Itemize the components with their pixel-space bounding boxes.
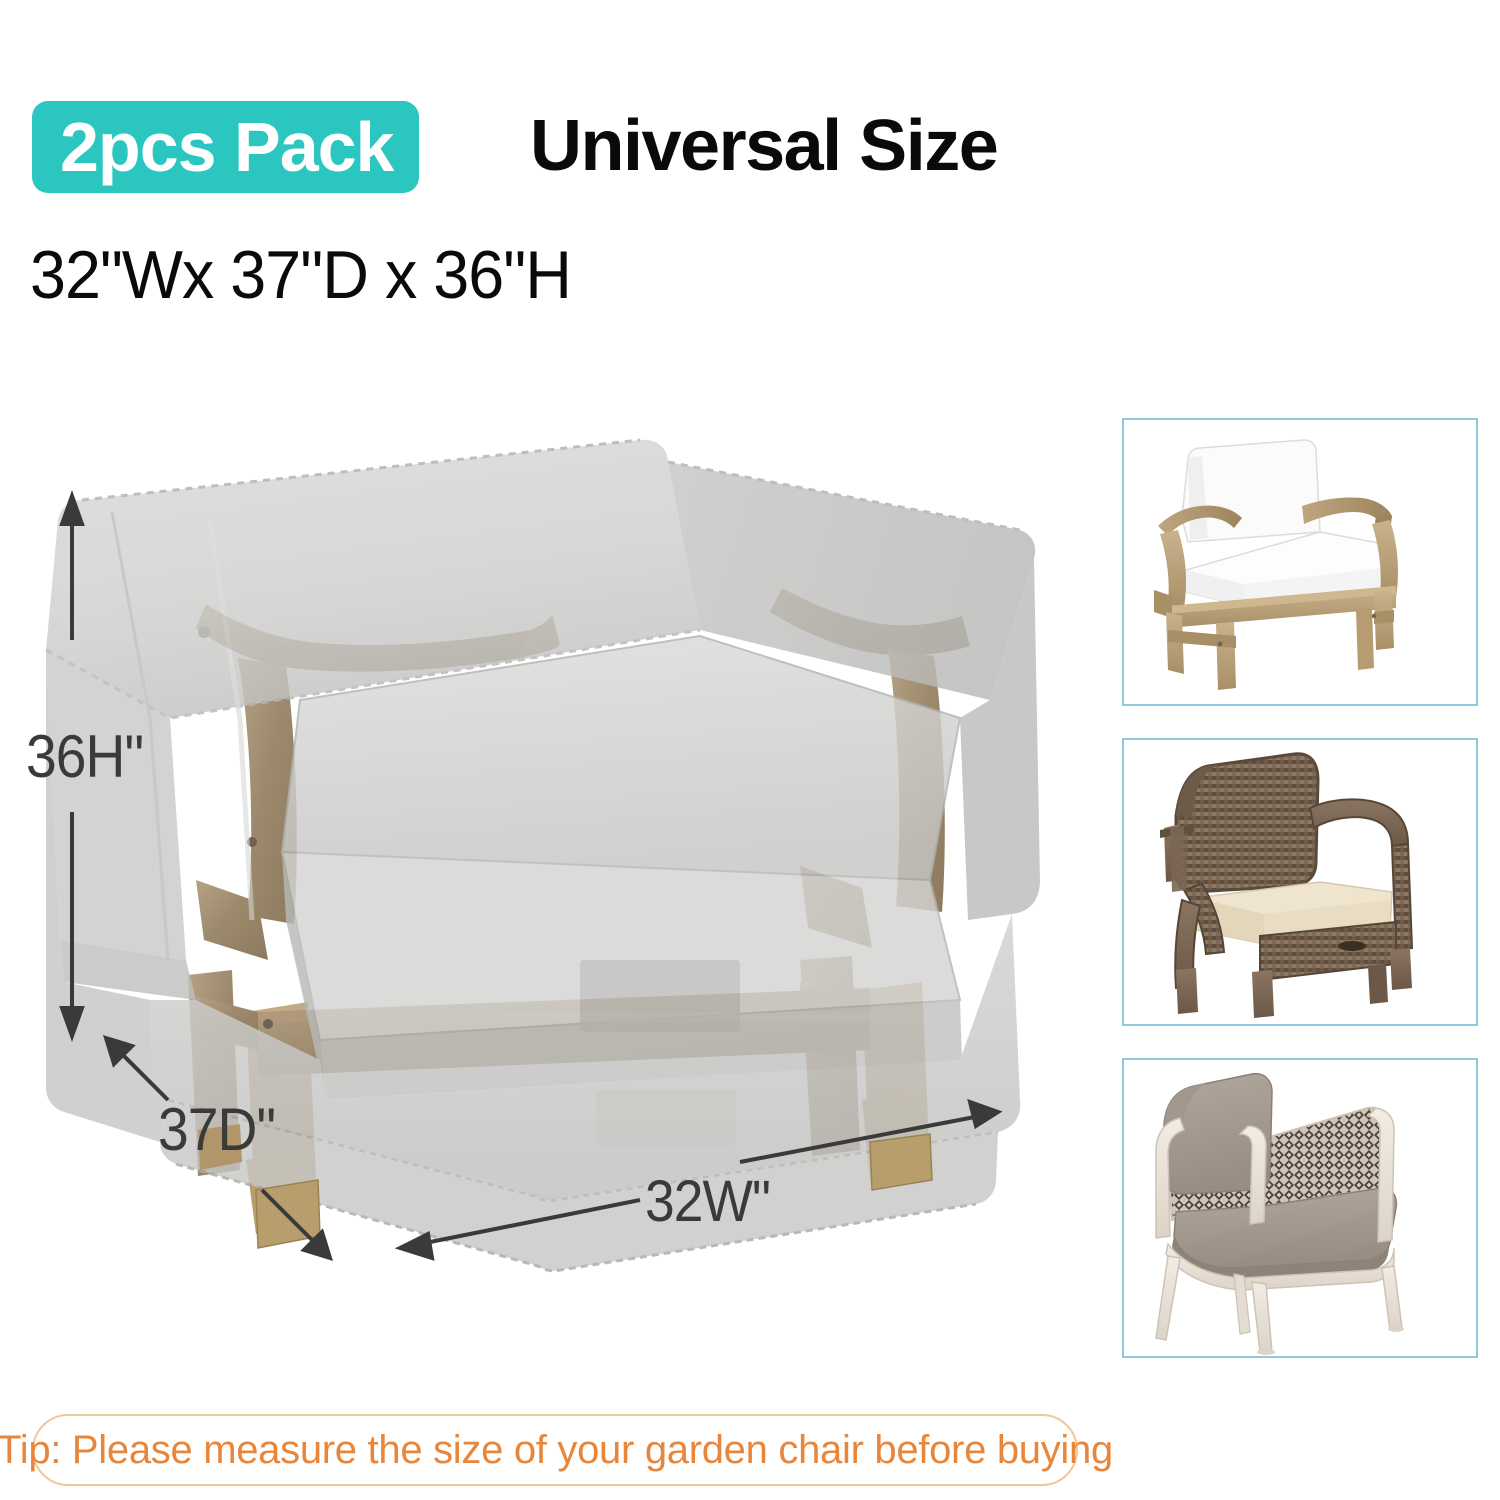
compatible-chair-thumbnail-1[interactable]: [1122, 418, 1478, 706]
tip-text: Tip: Please measure the size of your gar…: [0, 1428, 1113, 1473]
compatible-chair-thumbnail-3[interactable]: [1122, 1058, 1478, 1358]
width-dimension-label: 32W": [645, 1168, 770, 1235]
tip-banner: Tip: Please measure the size of your gar…: [32, 1414, 1078, 1486]
header: 2pcs Pack Universal Size 32"Wx 37"D x 36…: [0, 0, 1500, 330]
modern-lounge-chair-icon: [1124, 1060, 1476, 1356]
teak-wood-chair-icon: [1124, 420, 1476, 704]
pack-count-badge: 2pcs Pack: [32, 101, 419, 193]
depth-dimension-label: 37D": [158, 1095, 275, 1164]
dimensions-subtitle: 32"Wx 37"D x 36"H: [30, 232, 571, 318]
page-title: Universal Size: [530, 100, 997, 192]
compatible-chair-thumbnail-2[interactable]: [1122, 738, 1478, 1026]
rattan-wicker-chair-icon: [1124, 740, 1476, 1024]
hero-illustration: [0, 400, 1080, 1300]
height-dimension-label: 36H": [26, 722, 143, 791]
product-infographic: 2pcs Pack Universal Size 32"Wx 37"D x 36…: [0, 0, 1500, 1500]
